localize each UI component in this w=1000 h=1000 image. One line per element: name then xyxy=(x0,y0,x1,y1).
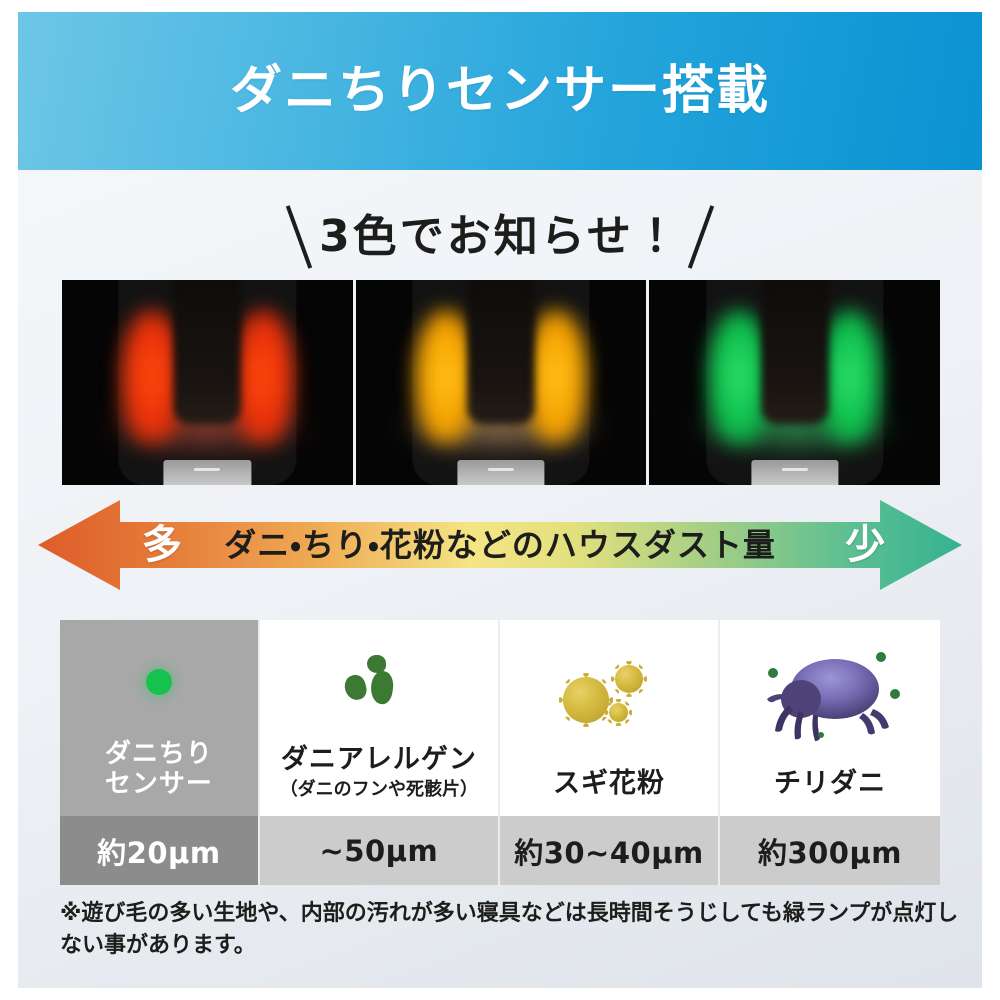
arrow-label-few: 少 xyxy=(845,498,886,592)
nozzle-shape xyxy=(761,280,828,424)
size-comparison-table: ダニちり センサー ダニアレルゲン （ダニのフンや死骸片） xyxy=(60,620,940,885)
green-led-dot-icon xyxy=(146,669,172,695)
page-title: ダニちりセンサー搭載 xyxy=(230,65,770,117)
lamp-photo-green xyxy=(649,280,940,485)
allergen-caption: ダニアレルゲン （ダニのフンや死骸片） xyxy=(260,744,498,816)
lamp-photo-strip xyxy=(62,280,940,485)
mite-caption: チリダニ xyxy=(720,768,940,816)
mite-title: チリダニ xyxy=(720,768,940,800)
allergen-blobs-icon xyxy=(343,655,415,715)
unit-base xyxy=(751,460,838,485)
sensor-title-line1: ダニちり xyxy=(60,739,258,770)
footnote-text: ※遊び毛の多い生地や、内部の汚れが多い寝具などは長時間そうじしても緑ランプが点灯… xyxy=(60,898,960,962)
pollen-art xyxy=(500,620,718,768)
slash-left-icon xyxy=(286,205,312,268)
allergen-subtitle: （ダニのフンや死骸片） xyxy=(260,779,498,800)
nozzle-shape xyxy=(174,280,241,424)
sensor-art xyxy=(60,620,258,739)
header-banner: ダニちりセンサー搭載 xyxy=(18,12,982,170)
size-value-sensor: 約20μm xyxy=(60,816,260,885)
allergen-art xyxy=(260,620,498,744)
sensor-caption: ダニちり センサー xyxy=(60,739,258,816)
pollen-title: スギ花粉 xyxy=(500,768,718,800)
size-value-allergen: ~50μm xyxy=(260,816,500,885)
table-row-labels: ダニちり センサー ダニアレルゲン （ダニのフンや死骸片） xyxy=(60,620,940,816)
table-cell-sensor: ダニちり センサー xyxy=(60,620,260,816)
table-cell-pollen: スギ花粉 xyxy=(500,620,720,816)
dust-mite-icon xyxy=(755,651,905,743)
nozzle-shape xyxy=(468,280,535,424)
unit-base xyxy=(164,460,251,485)
dust-amount-arrow: ダニ・ちり・花粉などのハウスダスト量 多 少 xyxy=(38,498,962,592)
allergen-title: ダニアレルゲン xyxy=(260,744,498,776)
table-cell-mite: チリダニ xyxy=(720,620,940,816)
sensor-title-line2: センサー xyxy=(60,769,258,800)
slash-right-icon xyxy=(688,205,714,268)
lamp-photo-yellow xyxy=(356,280,647,485)
base-highlight xyxy=(194,468,220,471)
mite-art xyxy=(720,620,940,768)
pollen-caption: スギ花粉 xyxy=(500,768,718,816)
infographic-page: ダニちりセンサー搭載 3色でお知らせ！ xyxy=(0,0,1000,1000)
lamp-photo-red xyxy=(62,280,353,485)
base-highlight xyxy=(782,468,808,471)
arrow-label-many: 多 xyxy=(142,498,183,592)
table-cell-allergen: ダニアレルゲン （ダニのフンや死骸片） xyxy=(260,620,500,816)
base-highlight xyxy=(488,468,514,471)
size-value-pollen: 約30~40μm xyxy=(500,816,720,885)
subtitle-text: 3色でお知らせ！ xyxy=(319,215,681,259)
size-value-mite: 約300μm xyxy=(720,816,940,885)
table-row-sizes: 約20μm ~50μm 約30~40μm 約300μm xyxy=(60,816,940,885)
unit-base xyxy=(457,460,544,485)
content-area: 3色でお知らせ！ xyxy=(18,170,982,988)
pollen-spheres-icon xyxy=(557,661,661,733)
subtitle-row: 3色でお知らせ！ xyxy=(18,194,982,280)
